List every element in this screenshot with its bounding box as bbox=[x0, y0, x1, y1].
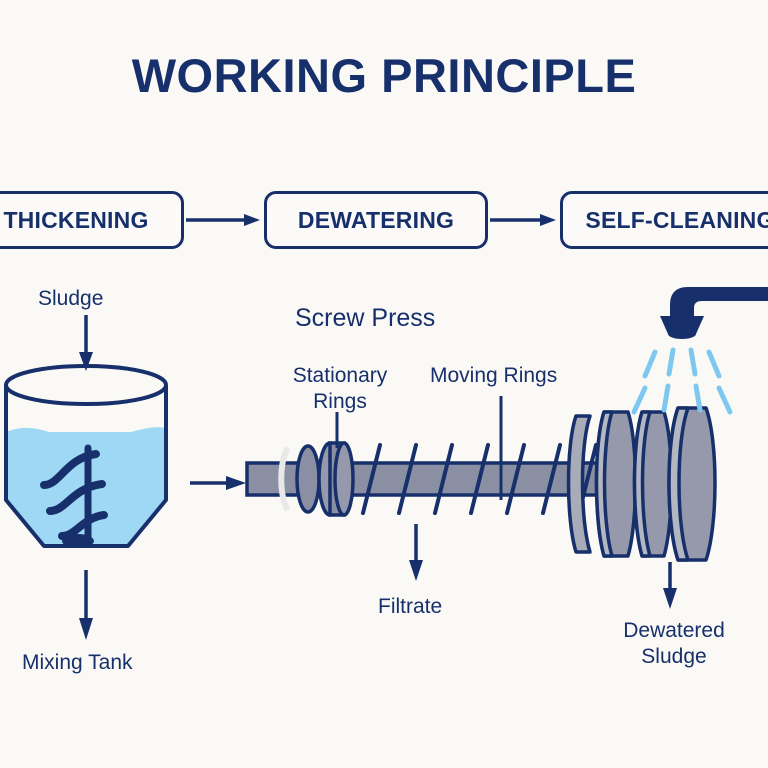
diagram-canvas: WORKING PRINCIPLE THICKENING DEWATERING … bbox=[0, 0, 768, 768]
label-stationary-rings-line2: Rings bbox=[280, 389, 400, 415]
label-mixing-tank: Mixing Tank bbox=[22, 650, 133, 676]
dewatered-sludge-arrow bbox=[663, 562, 677, 609]
filtrate-arrow bbox=[409, 524, 423, 581]
label-filtrate: Filtrate bbox=[378, 594, 442, 620]
label-stationary-rings: Stationary Rings bbox=[280, 363, 400, 415]
mixing-tank-label-arrow bbox=[79, 570, 93, 640]
label-dewatered-sludge-line2: Sludge bbox=[608, 644, 740, 670]
label-moving-rings: Moving Rings bbox=[430, 363, 557, 389]
spray-droplets-icon bbox=[634, 350, 730, 412]
label-sludge: Sludge bbox=[38, 286, 103, 312]
label-dewatered-sludge-line1: Dewatered bbox=[608, 618, 740, 644]
label-stationary-rings-line1: Stationary bbox=[280, 363, 400, 389]
shower-head-icon bbox=[660, 287, 768, 339]
label-dewatered-sludge: Dewatered Sludge bbox=[608, 618, 740, 670]
sludge-inlet-arrow bbox=[79, 315, 93, 371]
mixing-tank-icon bbox=[6, 366, 166, 548]
label-screw-press: Screw Press bbox=[295, 305, 435, 331]
tank-to-screw-arrow bbox=[190, 476, 246, 490]
